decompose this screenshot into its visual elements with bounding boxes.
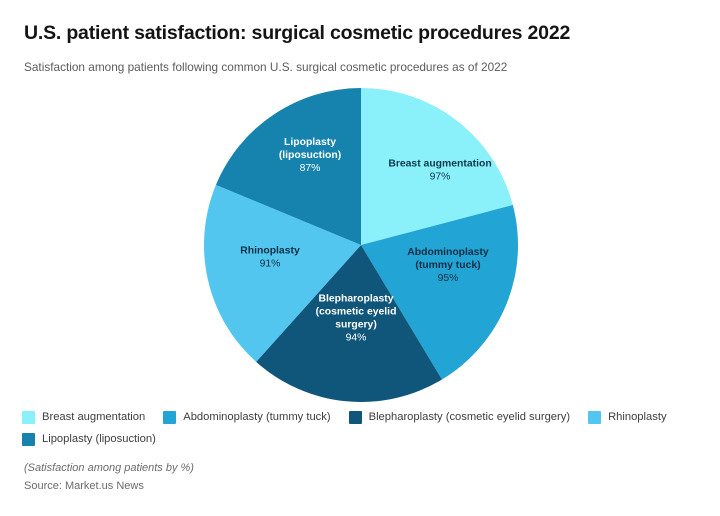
- chart-subtitle: Satisfaction among patients following co…: [24, 60, 507, 74]
- pie-slice-label: (liposuction): [279, 150, 341, 161]
- legend-item[interactable]: Breast augmentation: [22, 408, 145, 426]
- pie-slice-value: 94%: [346, 332, 367, 343]
- chart-legend: Breast augmentationAbdominoplasty (tummy…: [22, 408, 702, 448]
- pie-slice-label: Rhinoplasty: [240, 245, 300, 256]
- pie-slice-label: (tummy tuck): [415, 260, 480, 271]
- legend-item-label: Breast augmentation: [42, 411, 145, 423]
- legend-swatch-icon: [349, 411, 362, 424]
- legend-item-label: Lipoplasty (liposuction): [42, 433, 156, 445]
- legend-item-label: Abdominoplasty (tummy tuck): [183, 411, 330, 423]
- pie-slice-label: Lipoplasty: [284, 137, 336, 148]
- legend-swatch-icon: [163, 411, 176, 424]
- footnote-source: Source: Market.us News: [24, 480, 194, 492]
- pie-slice-value: 91%: [260, 258, 281, 269]
- chart-page: U.S. patient satisfaction: surgical cosm…: [0, 0, 720, 516]
- legend-item[interactable]: Lipoplasty (liposuction): [22, 430, 156, 448]
- pie-chart-container: Breast augmentation97%Abdominoplasty(tum…: [0, 80, 720, 405]
- legend-swatch-icon: [22, 411, 35, 424]
- pie-chart: Breast augmentation97%Abdominoplasty(tum…: [0, 80, 720, 405]
- pie-slice-label: Blepharoplasty: [318, 293, 393, 304]
- legend-item[interactable]: Rhinoplasty: [588, 408, 666, 426]
- legend-item-label: Rhinoplasty: [608, 411, 666, 423]
- footnote-unit: (Satisfaction among patients by %): [24, 462, 194, 474]
- legend-swatch-icon: [588, 411, 601, 424]
- legend-item[interactable]: Abdominoplasty (tummy tuck): [163, 408, 330, 426]
- pie-slice-label: Breast augmentation: [388, 158, 491, 169]
- legend-swatch-icon: [22, 433, 35, 446]
- page-title: U.S. patient satisfaction: surgical cosm…: [24, 22, 570, 45]
- pie-slice-value: 95%: [438, 273, 459, 284]
- pie-slice-value: 97%: [430, 171, 451, 182]
- chart-footnotes: (Satisfaction among patients by %) Sourc…: [24, 462, 194, 492]
- legend-item[interactable]: Blepharoplasty (cosmetic eyelid surgery): [349, 408, 570, 426]
- pie-slice-label: Abdominoplasty: [407, 247, 489, 258]
- pie-slice-label: (cosmetic eyelid: [316, 306, 397, 317]
- pie-slice-label: surgery): [335, 319, 377, 330]
- pie-slice-value: 87%: [300, 163, 321, 174]
- legend-item-label: Blepharoplasty (cosmetic eyelid surgery): [369, 411, 570, 423]
